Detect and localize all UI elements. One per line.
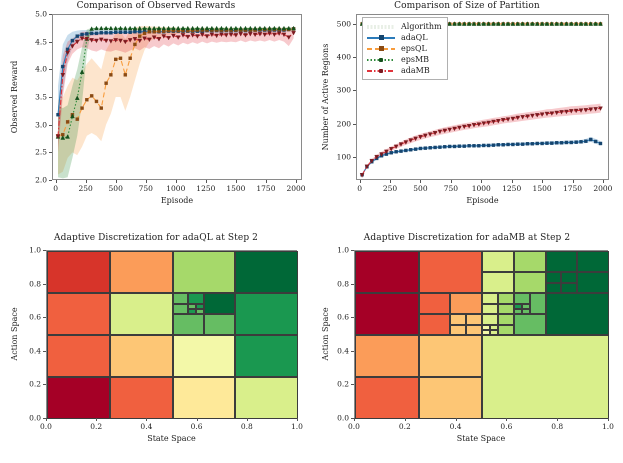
partition-cell	[188, 309, 196, 314]
x-tick-mark	[603, 180, 604, 183]
y-tick-label: 0.2	[320, 380, 349, 389]
legend-title-swatch	[367, 22, 395, 32]
x-tick-mark	[266, 180, 267, 183]
partition-cell	[498, 304, 514, 315]
partition-cell	[235, 293, 298, 335]
x-tick-mark	[506, 418, 507, 421]
data-point-adaQL	[114, 31, 117, 34]
x-tick-label: 1000	[166, 184, 185, 193]
x-tick-label: 1500	[533, 184, 552, 193]
partition-cell	[561, 272, 577, 283]
data-point-adaQL	[555, 141, 558, 144]
data-point-adaQL	[443, 145, 446, 148]
data-point-adaQL	[90, 32, 93, 35]
x-tick-label: 0.6	[500, 422, 512, 431]
data-point-adaQL	[57, 113, 60, 116]
x-tick-label: 0.2	[90, 422, 102, 431]
legend-item-adaMB[interactable]: adaMB	[367, 65, 442, 76]
x-tick-mark	[146, 418, 147, 421]
partition-cell	[419, 293, 451, 314]
data-point-adaQL	[100, 31, 103, 34]
y-tick-mark	[43, 317, 46, 318]
legend-label-adaMB: adaMB	[395, 66, 430, 75]
partition-cell	[110, 335, 173, 377]
data-point-adaQL	[482, 144, 485, 147]
partition-cell	[355, 293, 419, 335]
partition-cell	[482, 293, 498, 304]
partition-cell	[450, 325, 466, 336]
x-tick-mark	[481, 180, 482, 183]
partition-cell	[498, 314, 514, 325]
partition-cell	[188, 293, 204, 304]
x-tick-label: 1.0	[291, 422, 303, 431]
x-tick-label: 2000	[593, 184, 612, 193]
y-tick-label: 0.4	[320, 346, 349, 355]
x-tick-label: 750	[444, 184, 458, 193]
panel-size-of-partition: Comparison of Size of Partition Number o…	[311, 0, 623, 232]
data-point-epsQL	[76, 118, 79, 121]
data-point-adaQL	[414, 148, 417, 151]
x-tick-label: 1750	[563, 184, 582, 193]
partition-cell	[482, 314, 498, 325]
data-point-epsQL	[138, 35, 141, 38]
x-tick-label: 0.8	[551, 422, 563, 431]
partition-cell	[466, 314, 482, 325]
partition-cell	[204, 314, 235, 335]
data-point-epsQL	[129, 57, 132, 60]
x-tick-mark	[456, 418, 457, 421]
x-tick-label: 1250	[502, 184, 521, 193]
partition-cell	[514, 251, 546, 272]
data-point-adaQL	[575, 141, 578, 144]
y-tick-label: 400	[322, 53, 351, 62]
partition-cell	[546, 272, 562, 283]
legend-swatch-epsQL	[367, 44, 395, 54]
y-tick-label: 0.8	[12, 279, 41, 288]
x-tick-mark	[296, 180, 297, 183]
y-tick-label: 3.5	[18, 93, 47, 102]
data-point-adaQL	[453, 145, 456, 148]
data-point-adaQL	[95, 32, 98, 35]
x-tick-mark	[608, 418, 609, 421]
partition-cell	[235, 377, 298, 419]
legend-label-epsMB: epsMB	[395, 55, 429, 64]
x-tick-mark	[96, 418, 97, 421]
data-point-epsQL	[90, 94, 93, 97]
legend-swatch-epsMB	[367, 55, 395, 65]
legend-item-epsQL[interactable]: epsQL	[367, 43, 442, 54]
data-point-epsQL	[153, 30, 156, 33]
y-tick-mark	[43, 250, 46, 251]
data-point-adaQL	[584, 140, 587, 143]
data-point-adaQL	[138, 30, 141, 33]
data-point-adaQL	[511, 143, 514, 146]
y-tick-label: 2.0	[18, 176, 47, 185]
x-tick-mark	[206, 180, 207, 183]
x-tick-label: 0	[53, 184, 58, 193]
panel-adamb-discretization: Adaptive Discretization for adaMB at Ste…	[311, 232, 623, 463]
x-tick-mark	[176, 180, 177, 183]
data-point-adaQL	[580, 140, 583, 143]
data-point-epsQL	[105, 82, 108, 85]
x-tick-label: 500	[413, 184, 427, 193]
y-tick-mark	[49, 180, 52, 181]
partition-cell	[482, 304, 498, 315]
data-point-adaQL	[477, 144, 480, 147]
y-tick-label: 300	[322, 86, 351, 95]
partition-cell	[561, 283, 577, 294]
y-tick-label: 0.0	[12, 414, 41, 423]
x-tick-mark	[557, 418, 558, 421]
y-tick-mark	[49, 152, 52, 153]
data-point-adaQL	[502, 143, 505, 146]
data-point-adaQL	[448, 145, 451, 148]
data-point-epsQL	[109, 73, 112, 76]
x-tick-label: 250	[383, 184, 397, 193]
y-tick-mark	[43, 351, 46, 352]
data-point-epsQL	[133, 43, 136, 46]
partition-cell	[173, 304, 189, 315]
data-point-adaQL	[76, 35, 79, 38]
y-tick-mark	[353, 24, 356, 25]
data-point-adaQL	[133, 30, 136, 33]
partition-cell	[514, 314, 546, 335]
y-tick-label: 0.8	[320, 279, 349, 288]
legend-title-row: Algorithm	[367, 21, 442, 32]
partition-cell	[173, 335, 236, 377]
data-point-adaQL	[492, 144, 495, 147]
partition-cell	[450, 314, 466, 325]
x-tick-mark	[405, 418, 406, 421]
data-point-adaQL	[541, 142, 544, 145]
partition-cell	[235, 251, 298, 293]
x-tick-mark	[573, 180, 574, 183]
y-tick-mark	[351, 250, 354, 251]
x-tick-mark	[197, 418, 198, 421]
y-tick-mark	[351, 384, 354, 385]
data-point-epsQL	[66, 120, 69, 123]
partition-cell	[577, 272, 609, 293]
x-tick-mark	[451, 180, 452, 183]
data-point-adaQL	[71, 39, 74, 42]
data-point-adaQL	[424, 147, 427, 150]
legend-item-adaQL[interactable]: adaQL	[367, 32, 442, 43]
y-tick-mark	[351, 317, 354, 318]
partition-cell	[546, 293, 610, 335]
data-point-adaQL	[472, 144, 475, 147]
x-tick-mark	[390, 180, 391, 183]
y-tick-mark	[43, 418, 46, 419]
y-tick-label: 4.5	[18, 37, 47, 46]
x-tick-mark	[420, 180, 421, 183]
partition-cell	[355, 377, 419, 419]
x-tick-label: 0.2	[399, 422, 411, 431]
y-tick-label: 1.0	[12, 246, 41, 255]
partition-cell	[173, 251, 236, 293]
partition-cell	[419, 314, 451, 335]
data-point-adaQL	[434, 146, 437, 149]
y-tick-label: 200	[322, 119, 351, 128]
x-tick-label: 1000	[472, 184, 491, 193]
y-tick-mark	[49, 14, 52, 15]
confidence-band-adaMB	[362, 104, 600, 176]
y-tick-label: 0.2	[12, 380, 41, 389]
partition-cell	[546, 283, 562, 294]
data-point-adaQL	[589, 138, 592, 141]
data-point-epsQL	[143, 32, 146, 35]
partition-cell	[173, 377, 236, 419]
data-point-adaQL	[404, 149, 407, 152]
data-point-adaQL	[594, 140, 597, 143]
y-tick-mark	[49, 97, 52, 98]
data-point-adaQL	[395, 150, 398, 153]
partition-cell	[355, 251, 419, 293]
x-tick-label: 1.0	[602, 422, 614, 431]
y-tick-mark	[351, 418, 354, 419]
y-tick-mark	[43, 384, 46, 385]
y-tick-mark	[43, 284, 46, 285]
partition-cell	[419, 377, 483, 419]
y-tick-label: 0.0	[320, 414, 349, 423]
data-point-adaQL	[565, 141, 568, 144]
data-point-adaQL	[536, 142, 539, 145]
x-tick-mark	[512, 180, 513, 183]
x-tick-label: 0.4	[140, 422, 152, 431]
x-tick-mark	[360, 180, 361, 183]
x-tick-label: 0.6	[191, 422, 203, 431]
data-point-adaQL	[438, 146, 441, 149]
axis-label-state-space-adaql: State Space	[46, 434, 297, 443]
partition-cell	[498, 325, 514, 336]
data-point-adaQL	[599, 142, 602, 145]
x-tick-label: 750	[139, 184, 153, 193]
partition-cell	[47, 335, 110, 377]
legend-label-epsQL: epsQL	[395, 44, 427, 53]
x-tick-label: 0.0	[348, 422, 360, 431]
y-tick-mark	[353, 157, 356, 158]
y-tick-label: 1.0	[320, 246, 349, 255]
x-tick-mark	[247, 418, 248, 421]
data-point-adaQL	[550, 142, 553, 145]
y-tick-mark	[353, 57, 356, 58]
partition-cell	[482, 251, 514, 272]
data-point-adaQL	[507, 143, 510, 146]
y-tick-label: 500	[322, 19, 351, 28]
data-point-adaQL	[85, 32, 88, 35]
x-tick-mark	[56, 180, 57, 183]
data-point-epsQL	[114, 58, 117, 61]
plot-area-adaql-disc	[46, 250, 297, 418]
partition-cell	[355, 335, 419, 377]
y-tick-mark	[49, 69, 52, 70]
legend-swatch-adaQL	[367, 33, 395, 43]
legend-item-epsMB[interactable]: epsMB	[367, 54, 442, 65]
partition-cell	[482, 335, 609, 419]
figure-canvas: Comparison of Observed Rewards Observed …	[0, 0, 623, 463]
data-point-adaQL	[497, 143, 500, 146]
partition-cell	[47, 251, 110, 293]
y-tick-label: 4.0	[18, 65, 47, 74]
y-tick-label: 5.0	[18, 10, 47, 19]
data-point-epsQL	[85, 98, 88, 101]
x-tick-label: 1250	[196, 184, 215, 193]
data-point-adaQL	[570, 141, 573, 144]
partition-cell	[419, 335, 483, 377]
data-point-adaQL	[124, 31, 127, 34]
plot-area-adamb-disc	[354, 250, 608, 418]
data-point-adaQL	[105, 31, 108, 34]
data-point-adaQL	[516, 143, 519, 146]
y-tick-mark	[351, 284, 354, 285]
data-point-epsQL	[81, 107, 84, 110]
panel-observed-rewards: Comparison of Observed Rewards Observed …	[0, 0, 312, 232]
data-point-adaQL	[487, 144, 490, 147]
partition-cell	[173, 314, 204, 335]
x-tick-label: 0	[357, 184, 362, 193]
data-point-epsQL	[100, 107, 103, 110]
partition-cell	[546, 251, 578, 272]
partition-cell	[466, 325, 482, 336]
data-point-adaQL	[560, 141, 563, 144]
y-tick-label: 0.6	[320, 313, 349, 322]
x-tick-mark	[236, 180, 237, 183]
data-point-epsQL	[148, 30, 151, 33]
y-tick-label: 100	[322, 152, 351, 161]
x-tick-mark	[86, 180, 87, 183]
legend-swatch-adaMB	[367, 66, 395, 76]
x-tick-label: 0.0	[40, 422, 52, 431]
x-tick-mark	[146, 180, 147, 183]
series-layer	[0, 0, 312, 232]
data-point-adaQL	[531, 142, 534, 145]
partition-cell	[110, 377, 173, 419]
x-tick-label: 250	[78, 184, 92, 193]
data-point-epsQL	[95, 100, 98, 103]
data-point-adaQL	[526, 142, 529, 145]
data-point-adaQL	[463, 145, 466, 148]
y-tick-mark	[353, 90, 356, 91]
data-point-epsQL	[119, 57, 122, 60]
partition-cell	[514, 272, 546, 293]
partition-cell	[196, 309, 204, 314]
partition-cell	[204, 293, 235, 314]
panel-adaql-discretization: Adaptive Discretization for adaQL at Ste…	[0, 232, 312, 463]
partition-cell	[110, 251, 173, 293]
y-tick-label: 2.5	[18, 148, 47, 157]
x-tick-label: 0.8	[241, 422, 253, 431]
data-point-adaQL	[545, 142, 548, 145]
x-tick-label: 1500	[226, 184, 245, 193]
data-point-adaQL	[81, 33, 84, 36]
data-point-adaQL	[429, 146, 432, 149]
y-tick-mark	[353, 124, 356, 125]
x-tick-mark	[297, 418, 298, 421]
y-tick-label: 0.6	[12, 313, 41, 322]
y-tick-mark	[351, 351, 354, 352]
series-layer	[311, 0, 623, 232]
y-tick-mark	[49, 125, 52, 126]
partition-cell	[110, 293, 173, 335]
y-tick-label: 3.0	[18, 120, 47, 129]
y-tick-mark	[49, 42, 52, 43]
x-tick-mark	[542, 180, 543, 183]
legend-label-adaQL: adaQL	[395, 33, 428, 42]
legend-algorithm[interactable]: AlgorithmadaQLepsQLepsMBadaMB	[362, 17, 448, 80]
y-tick-label: 0.4	[12, 346, 41, 355]
data-point-adaQL	[400, 150, 403, 153]
x-tick-label: 500	[109, 184, 123, 193]
data-point-adaQL	[521, 143, 524, 146]
legend-title: Algorithm	[395, 22, 442, 31]
data-point-adaQL	[119, 31, 122, 34]
partition-cell	[235, 335, 298, 377]
axis-label-state-space-adamb: State Space	[354, 434, 608, 443]
x-tick-mark	[116, 180, 117, 183]
data-point-adaQL	[468, 144, 471, 147]
data-point-adaQL	[109, 31, 112, 34]
partition-cell	[498, 293, 514, 304]
x-tick-label: 0.4	[450, 422, 462, 431]
panel-title-adaql-disc: Adaptive Discretization for adaQL at Ste…	[0, 233, 312, 243]
x-tick-label: 1750	[256, 184, 275, 193]
partition-cell	[577, 251, 609, 272]
data-point-adaQL	[61, 65, 64, 68]
partition-cell	[530, 293, 546, 314]
partition-cell	[47, 377, 110, 419]
partition-cell	[514, 293, 530, 304]
data-point-adaQL	[129, 31, 132, 34]
data-point-epsQL	[124, 73, 127, 76]
partition-cell	[47, 293, 110, 335]
partition-cell	[450, 293, 482, 314]
x-tick-label: 2000	[286, 184, 305, 193]
x-tick-mark	[46, 418, 47, 421]
partition-cell	[173, 293, 189, 304]
panel-title-adamb-disc: Adaptive Discretization for adaMB at Ste…	[311, 233, 623, 243]
data-point-adaQL	[458, 145, 461, 148]
data-point-adaQL	[419, 147, 422, 150]
data-point-adaQL	[390, 151, 393, 154]
data-point-adaQL	[409, 148, 412, 151]
partition-cell	[482, 272, 514, 293]
x-tick-mark	[354, 418, 355, 421]
partition-cell	[419, 251, 483, 293]
